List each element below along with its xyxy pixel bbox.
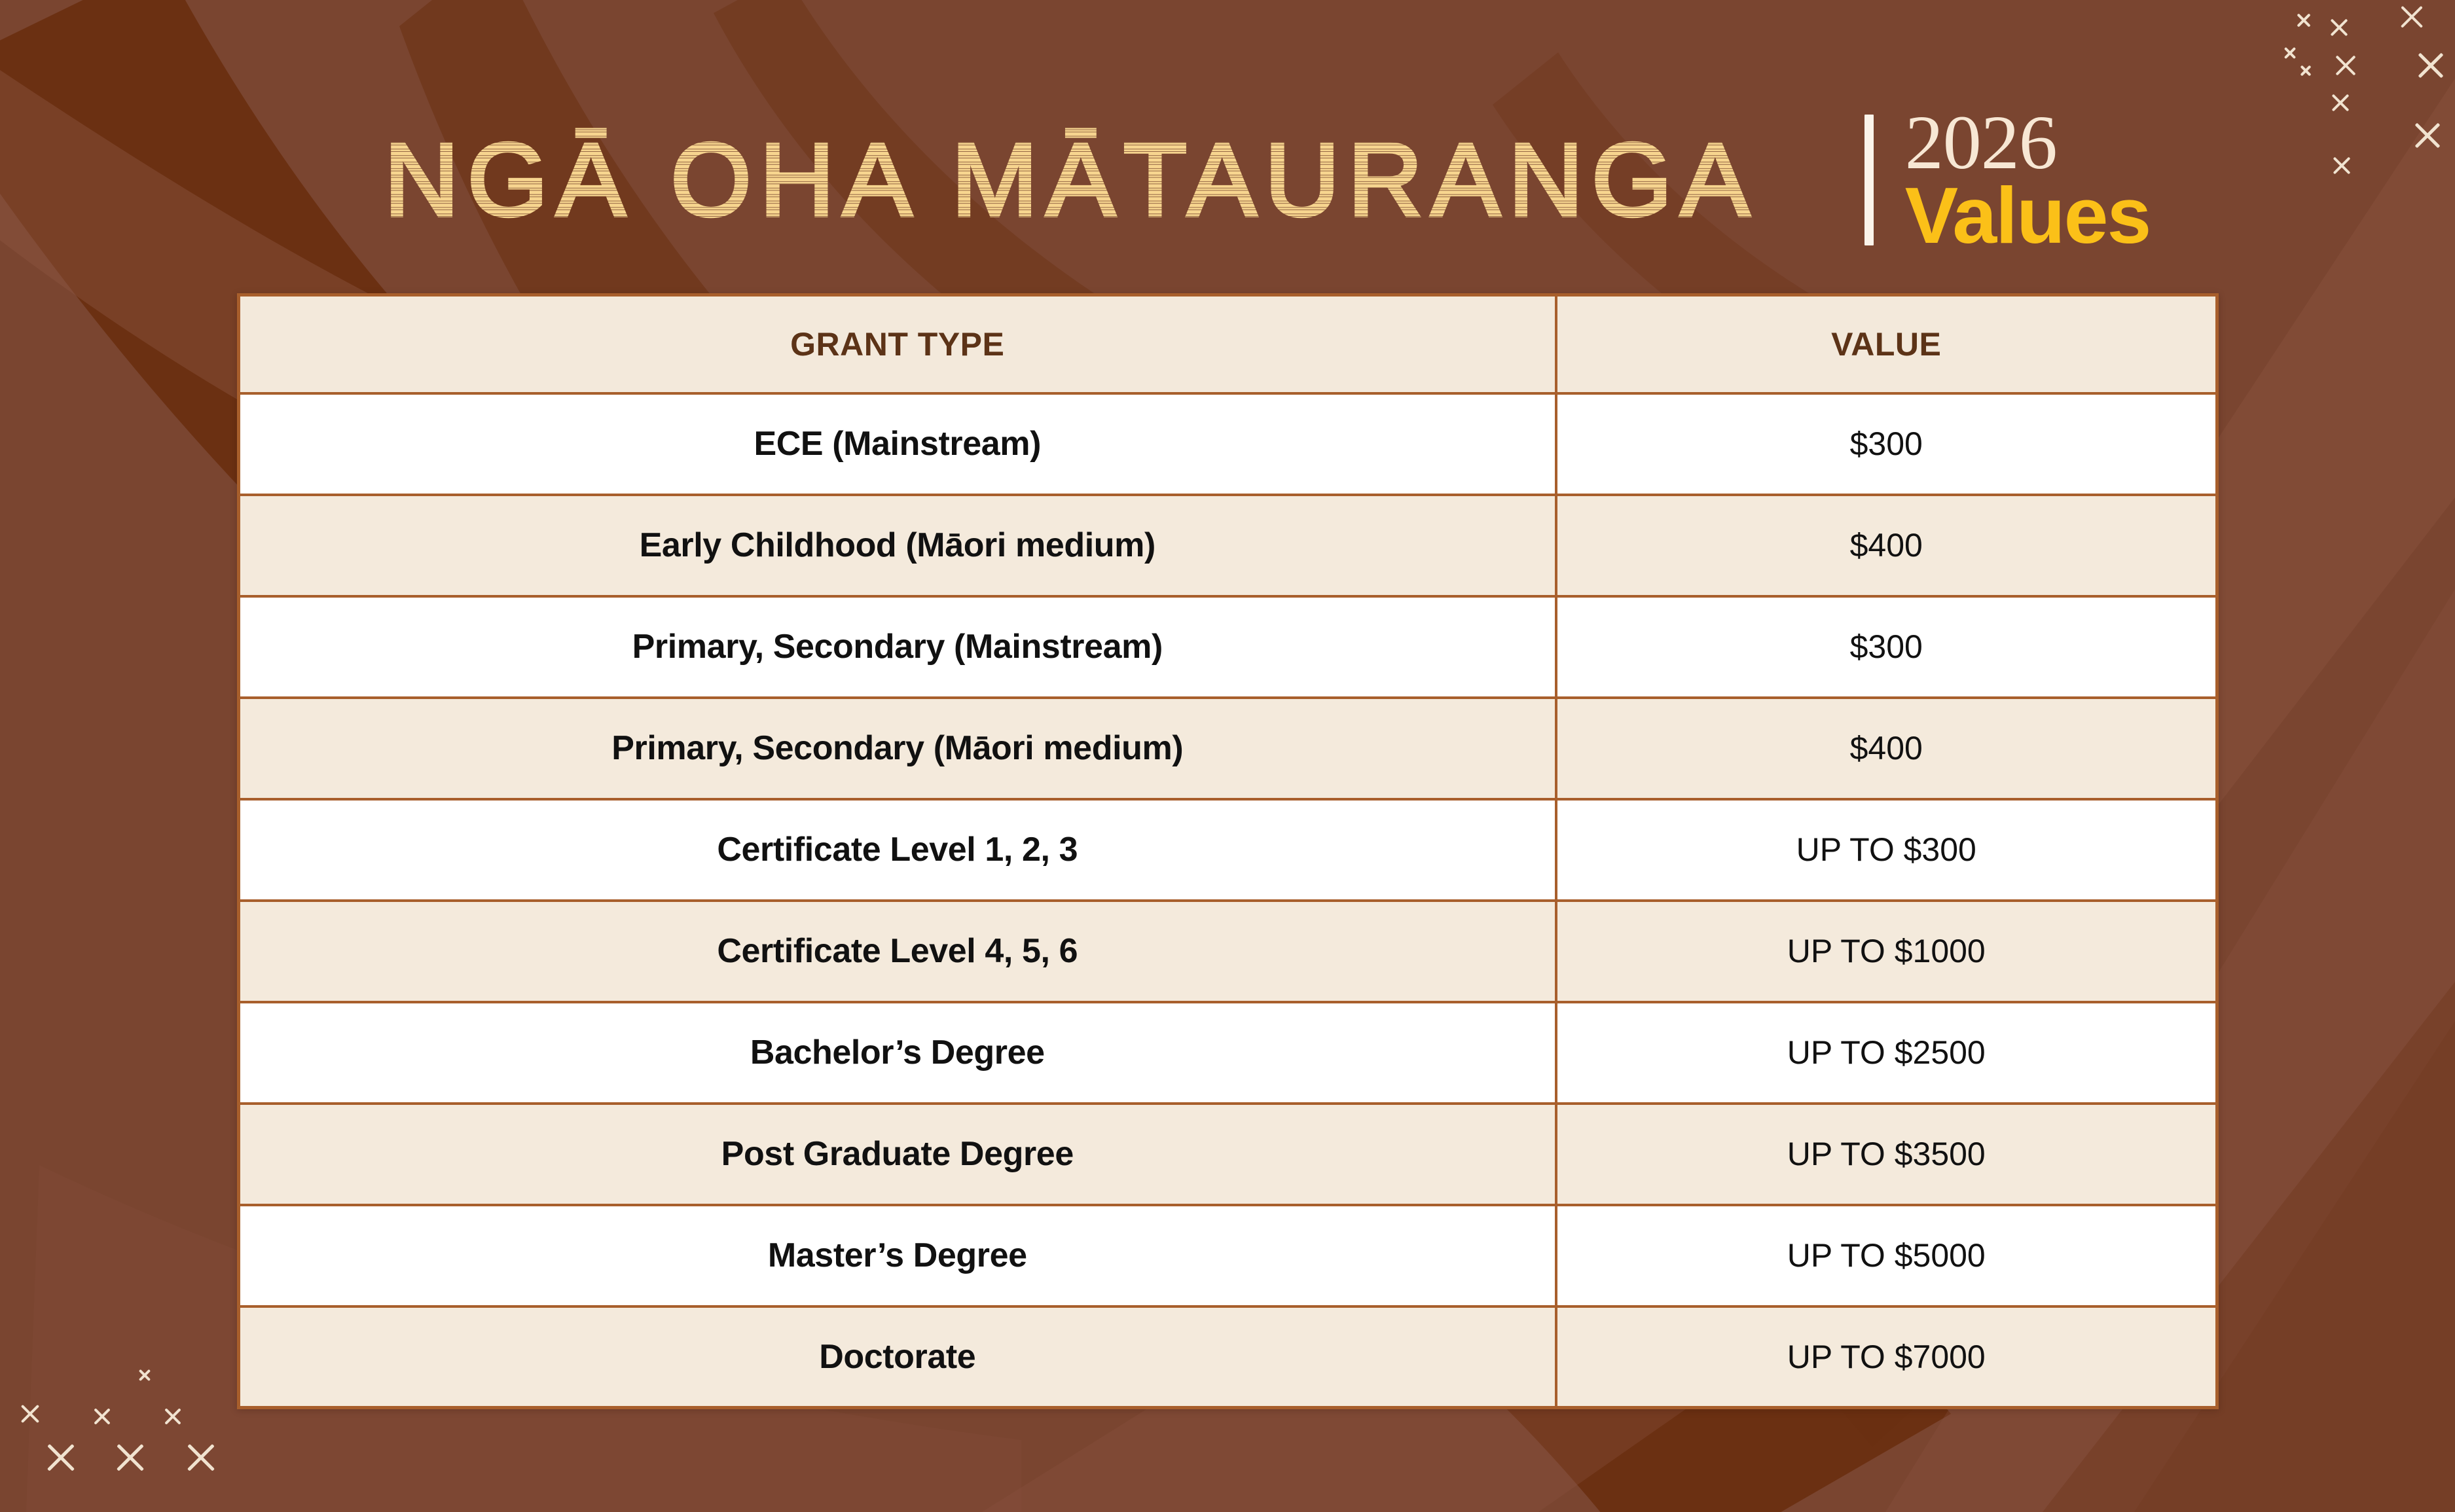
grants-table: GRANT TYPE VALUE ECE (Mainstream)$300Ear… <box>237 293 2219 1409</box>
cell-grant-type: Certificate Level 4, 5, 6 <box>239 901 1556 1002</box>
cell-value: UP TO $300 <box>1556 799 2217 901</box>
cell-value: UP TO $5000 <box>1556 1205 2217 1306</box>
table-row: Early Childhood (Māori medium)$400 <box>239 495 2217 596</box>
cell-grant-type: Doctorate <box>239 1306 1556 1408</box>
table-header-row: GRANT TYPE VALUE <box>239 295 2217 393</box>
cell-value: $300 <box>1556 393 2217 495</box>
cell-value: $400 <box>1556 698 2217 799</box>
cell-grant-type: Primary, Secondary (Mainstream) <box>239 596 1556 698</box>
cell-grant-type: Post Graduate Degree <box>239 1104 1556 1205</box>
table-row: Primary, Secondary (Māori medium)$400 <box>239 698 2217 799</box>
cell-grant-type: Primary, Secondary (Māori medium) <box>239 698 1556 799</box>
cell-value: UP TO $2500 <box>1556 1002 2217 1104</box>
cell-grant-type: ECE (Mainstream) <box>239 393 1556 495</box>
table-row: Master’s DegreeUP TO $5000 <box>239 1205 2217 1306</box>
year-label: 2026 <box>1905 105 2151 181</box>
table-row: DoctorateUP TO $7000 <box>239 1306 2217 1408</box>
cell-value: $400 <box>1556 495 2217 596</box>
cell-value: UP TO $1000 <box>1556 901 2217 1002</box>
cell-grant-type: Bachelor’s Degree <box>239 1002 1556 1104</box>
table-body: ECE (Mainstream)$300Early Childhood (Māo… <box>239 393 2217 1408</box>
column-header-grant-type: GRANT TYPE <box>239 295 1556 393</box>
table-row: ECE (Mainstream)$300 <box>239 393 2217 495</box>
page-header: NGĀ OHA MĀTAURANGA 2026 Values <box>0 85 2455 275</box>
cell-grant-type: Master’s Degree <box>239 1205 1556 1306</box>
cell-grant-type: Certificate Level 1, 2, 3 <box>239 799 1556 901</box>
cell-value: UP TO $7000 <box>1556 1306 2217 1408</box>
values-label: Values <box>1905 177 2151 255</box>
table-row: Post Graduate DegreeUP TO $3500 <box>239 1104 2217 1205</box>
table-row: Certificate Level 4, 5, 6UP TO $1000 <box>239 901 2217 1002</box>
cell-grant-type: Early Childhood (Māori medium) <box>239 495 1556 596</box>
year-values-block: 2026 Values <box>1905 105 2151 255</box>
cell-value: $300 <box>1556 596 2217 698</box>
title-wrap: NGĀ OHA MĀTAURANGA 2026 Values <box>305 105 2151 255</box>
page-title: NGĀ OHA MĀTAURANGA <box>305 121 1837 239</box>
cell-value: UP TO $3500 <box>1556 1104 2217 1205</box>
title-divider <box>1864 115 1874 245</box>
table-row: Certificate Level 1, 2, 3UP TO $300 <box>239 799 2217 901</box>
table-row: Bachelor’s DegreeUP TO $2500 <box>239 1002 2217 1104</box>
table-row: Primary, Secondary (Mainstream)$300 <box>239 596 2217 698</box>
column-header-value: VALUE <box>1556 295 2217 393</box>
